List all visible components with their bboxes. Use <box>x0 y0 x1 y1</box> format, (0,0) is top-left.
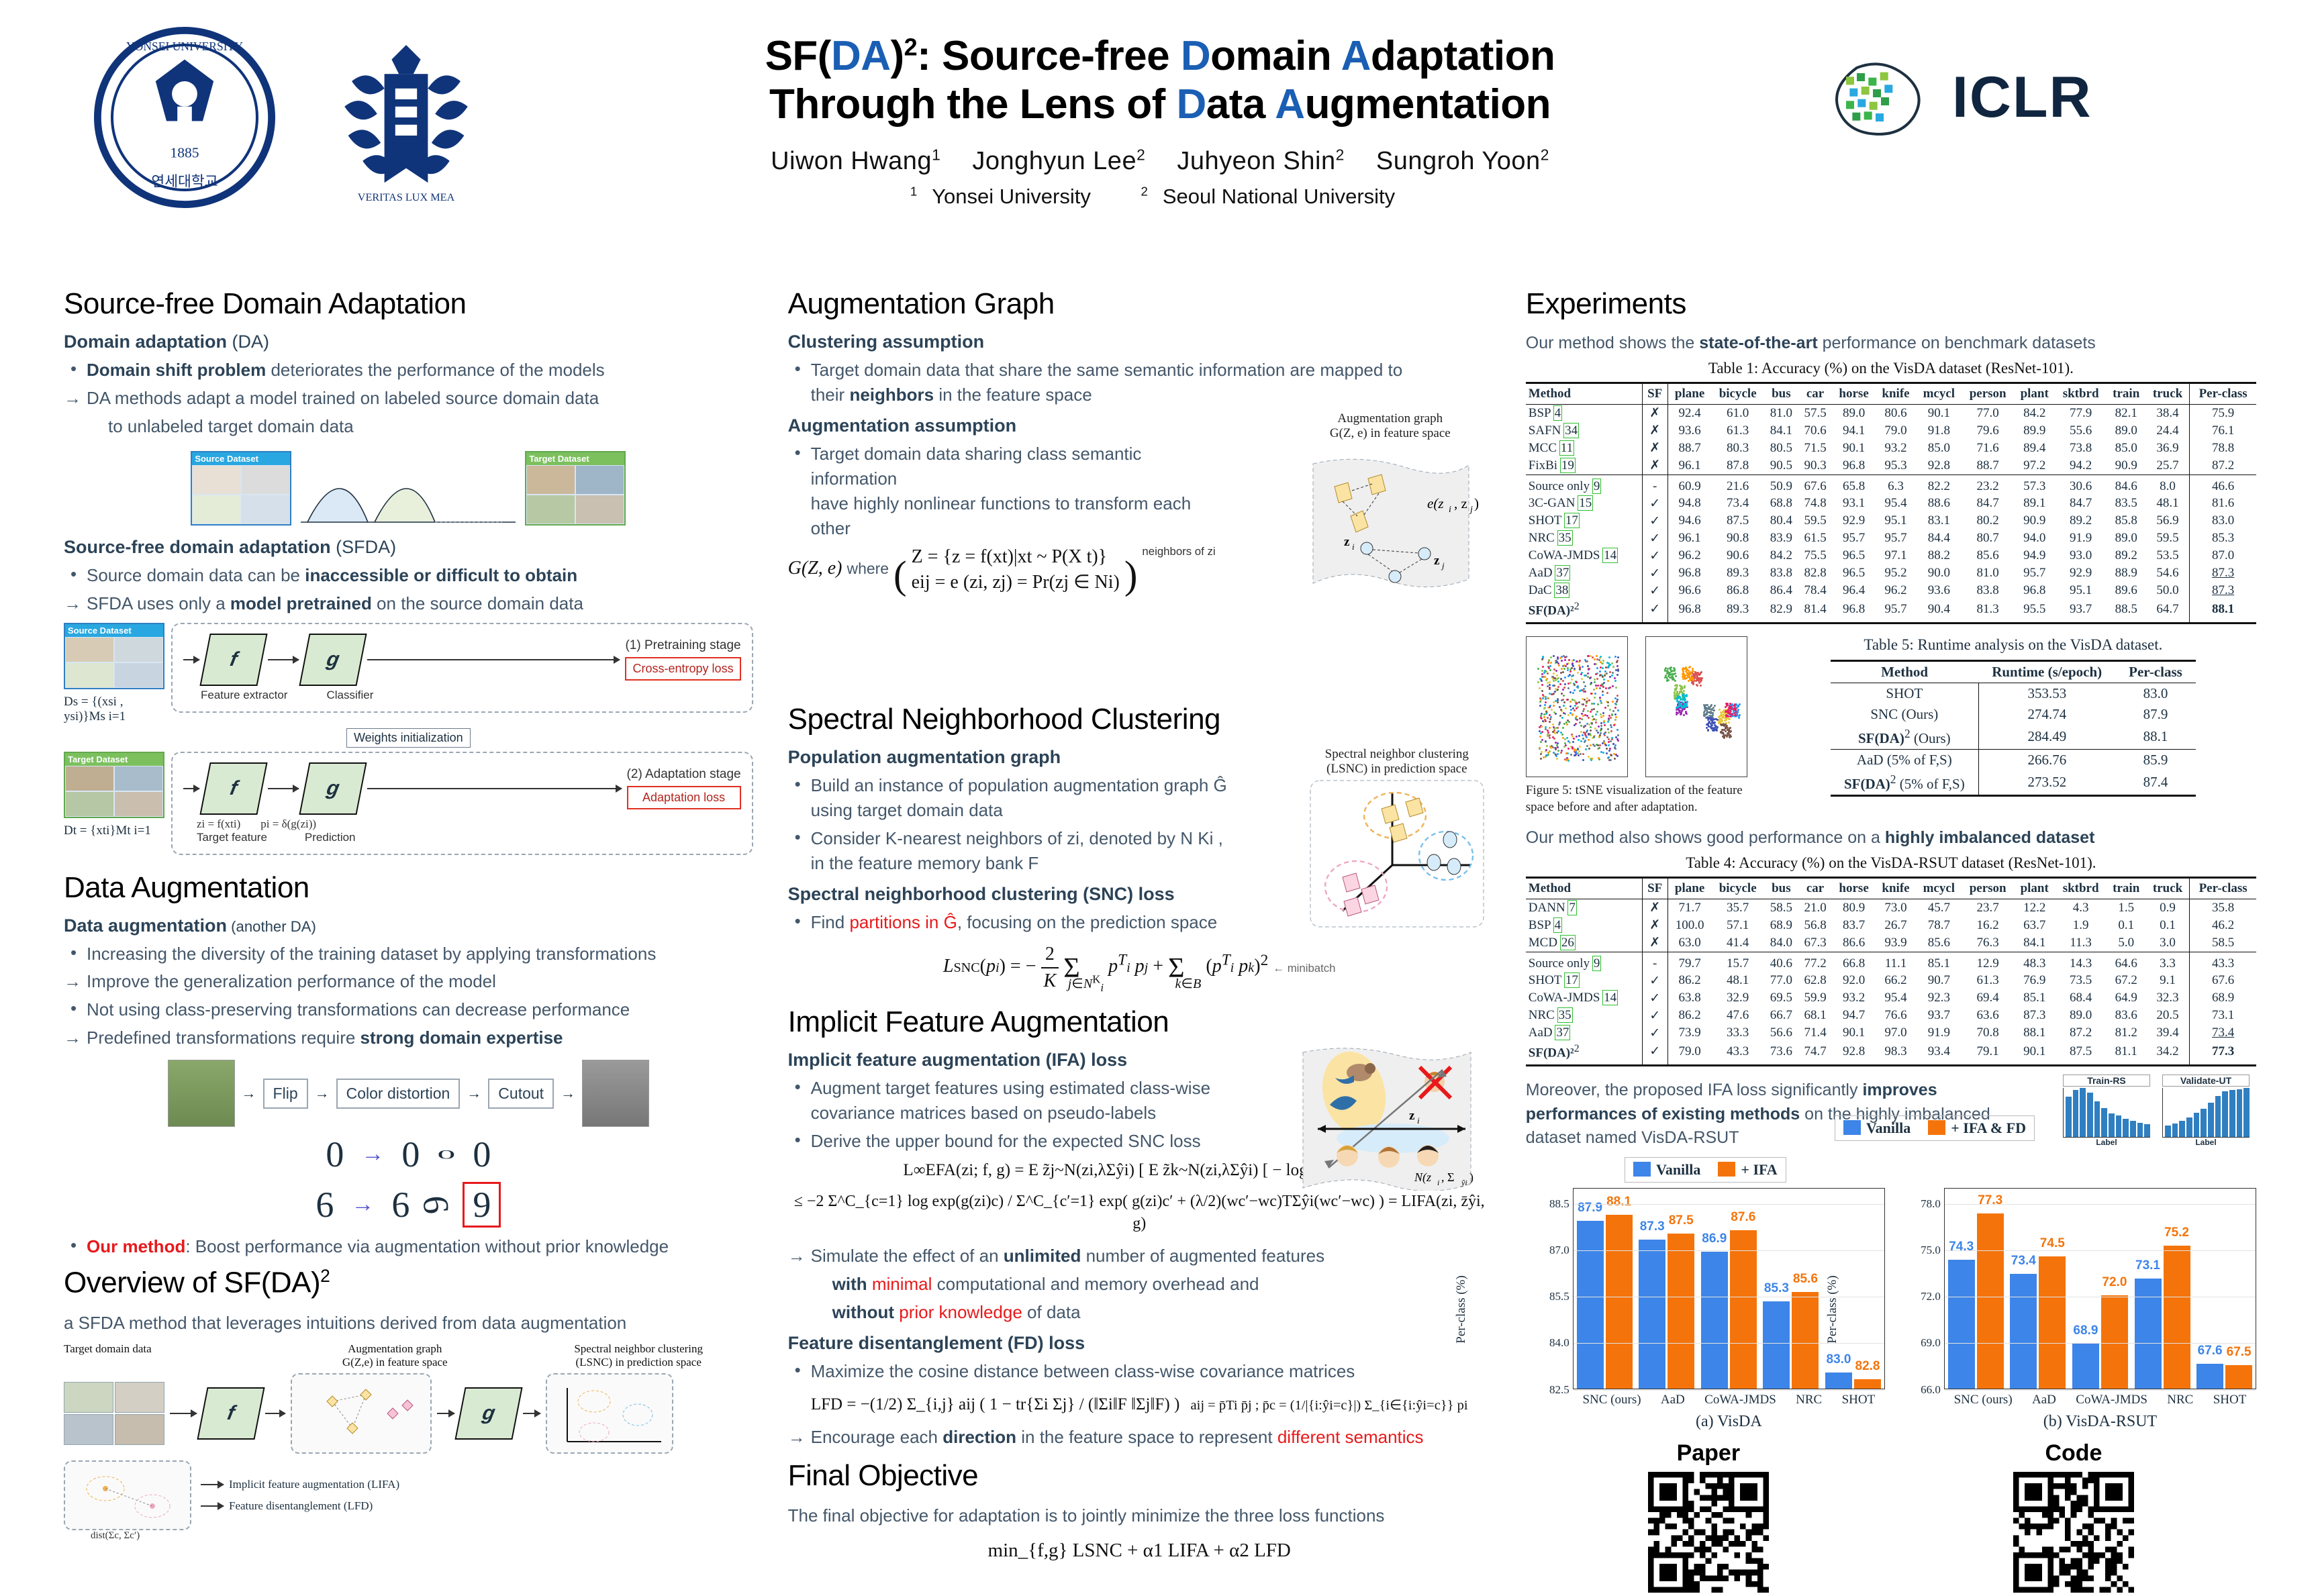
scatter-point <box>1714 705 1716 707</box>
scatter-point <box>1602 667 1604 669</box>
cell-value: 81.0 <box>1764 404 1798 422</box>
qr-paper-icon[interactable] <box>1648 1472 1769 1593</box>
subheading-sfda: Source-free domain adaptation (SFDA) <box>64 537 753 558</box>
bullet-list: Augment target features using estimated … <box>788 1076 1238 1154</box>
stage-label: (1) Pretraining stage <box>625 638 740 653</box>
qr-code[interactable]: Code <box>2013 1440 2134 1596</box>
scatter-point <box>1606 748 1608 750</box>
cell-value: 95.1 <box>2056 582 2107 599</box>
cell-value: 79.7 <box>1667 952 1711 972</box>
title-part: ugmentation <box>1305 81 1551 128</box>
mini-bar <box>2243 1088 2250 1137</box>
cell-value: 0.1 <box>2146 917 2190 934</box>
scatter-point <box>1570 754 1572 756</box>
scatter-point <box>1580 725 1582 727</box>
scatter-point <box>1609 671 1611 673</box>
scatter-point <box>1713 722 1715 724</box>
domain-shift-figure: Source Dataset Target Dataset <box>64 448 753 529</box>
scatter-point <box>1708 707 1710 709</box>
cell-value: 81.0 <box>1962 564 2013 582</box>
scatter-point <box>1590 682 1592 684</box>
scatter-point <box>1674 672 1676 675</box>
gridline <box>1574 1204 1884 1205</box>
col-header: knife <box>1876 877 1916 899</box>
cell-runtime: 273.52 <box>1978 770 2115 796</box>
scatter-point <box>1593 718 1595 720</box>
experiments-lead: Our method shows the state-of-the-art pe… <box>1526 332 2256 356</box>
scatter-point <box>1599 744 1601 746</box>
cell-value: 94.1 <box>1832 422 1875 440</box>
scatter-point <box>1547 717 1549 719</box>
list-item: Derive the upper bound for the expected … <box>788 1129 1238 1154</box>
scatter-point <box>1582 738 1584 740</box>
cell-per-class: 88.1 <box>2190 599 2256 623</box>
scatter-point <box>1550 656 1552 658</box>
table-row: Source only 9-79.715.740.677.266.811.185… <box>1526 952 2256 972</box>
cell-value: 89.3 <box>1711 599 1764 623</box>
scatter-point <box>1734 709 1736 711</box>
table-row: NRC 35✓96.190.883.961.595.795.784.480.79… <box>1526 530 2256 547</box>
scatter-point <box>1557 750 1559 752</box>
scatter-point <box>1598 758 1600 760</box>
scatter-point <box>1617 670 1619 672</box>
scatter-point <box>1614 748 1616 750</box>
cell-value: 87.5 <box>1711 512 1764 530</box>
cell-per-class: 75.9 <box>2190 404 2256 422</box>
scatter-point <box>1595 673 1597 675</box>
cell-value: 62.8 <box>1798 972 1833 989</box>
scatter-point <box>1602 691 1604 693</box>
scatter-point <box>1583 688 1585 690</box>
cell-value: 61.3 <box>1711 422 1764 440</box>
scatter-point <box>1557 658 1559 660</box>
overview-subtitle: a SFDA method that leverages intuitions … <box>64 1311 753 1336</box>
scatter-point <box>1600 725 1602 727</box>
scatter-point <box>1561 734 1563 736</box>
scatter-point <box>1692 668 1694 670</box>
scatter-point <box>1567 683 1569 685</box>
scatter-point <box>1558 664 1560 666</box>
bar-group: 87.988.1 <box>1577 1215 1633 1388</box>
table-row: Source only 9-60.921.650.967.665.86.382.… <box>1526 475 2256 495</box>
scatter-point <box>1580 740 1582 742</box>
thumb <box>192 465 241 495</box>
scatter-point <box>1615 687 1617 689</box>
scatter-point <box>1550 716 1552 718</box>
source-dataset-card: Source Dataset <box>64 623 164 689</box>
cell-value: 86.6 <box>1832 934 1875 952</box>
table-row: 3C-GAN 15✓94.873.468.874.893.195.488.684… <box>1526 495 2256 512</box>
scatter-point <box>1602 686 1604 688</box>
cell-value: 88.7 <box>1962 457 2013 475</box>
scatter-point <box>1562 680 1564 682</box>
scatter-point <box>1678 693 1680 695</box>
y-tick-label: 75.0 <box>1903 1244 1941 1257</box>
scatter-point <box>1586 736 1588 738</box>
bar-group: 83.082.8 <box>1825 1373 1881 1388</box>
mini-bars <box>2063 1088 2150 1138</box>
scatter-point <box>1573 659 1575 661</box>
scatter-point <box>1603 682 1605 684</box>
chart-legend-b-visible: Vanilla + IFA & FD <box>1835 1115 2035 1141</box>
source-dataset-label: Source Dataset <box>192 452 290 465</box>
aug-step-color-distortion: Color distortion <box>336 1079 461 1109</box>
y-tick-label: 85.5 <box>1532 1290 1569 1303</box>
scatter-point <box>1562 727 1564 729</box>
bar-ifa: 85.6 <box>1792 1292 1819 1388</box>
scatter-point <box>1614 680 1616 682</box>
scatter-point <box>1569 691 1572 693</box>
bar-vanilla: 73.4 <box>2010 1274 2037 1389</box>
figure-5-caption: Figure 5: tSNE visualization of the feat… <box>1526 783 1754 815</box>
feature-extractor-block: f <box>197 1387 264 1440</box>
chart-a-caption: (a) VisDA <box>1573 1413 1885 1431</box>
scatter-point <box>1725 706 1727 708</box>
title-part: Through the Lens of <box>769 81 1177 128</box>
cell-value: 83.5 <box>2107 495 2146 512</box>
scatter-point <box>1728 721 1730 724</box>
scatter-point <box>1591 758 1593 760</box>
prediction-space-clusters <box>1306 777 1488 931</box>
arrow-note-cont: to unlabeled target domain data <box>64 414 753 439</box>
scatter-point <box>1574 709 1576 711</box>
cell-value: 95.7 <box>1832 530 1875 547</box>
col-header: SF <box>1642 877 1667 899</box>
arrow-note: Predefined transformations require stron… <box>64 1026 753 1050</box>
scatter-point <box>1555 679 1557 681</box>
cell-sf: ✗ <box>1642 404 1667 422</box>
scatter-point <box>1616 701 1618 703</box>
bullet-list: Maximize the cosine distance between cla… <box>788 1359 1491 1384</box>
title-da: DA <box>831 33 891 79</box>
cell-value: 57.1 <box>1711 917 1764 934</box>
scatter-point <box>1596 678 1598 680</box>
x-tick-label: SHOT <box>2213 1393 2247 1407</box>
cell-value: 94.0 <box>2014 530 2056 547</box>
cell-value: 91.8 <box>1916 422 1962 440</box>
scatter-point <box>1607 680 1609 682</box>
cell-value: 95.2 <box>1876 564 1916 582</box>
augmentation-graph-formula: G(Z, e) where ( Z = {z = f(xt)|xt ~ P(X … <box>788 544 1266 602</box>
formula-row-2: eij = e (zi, zj) = Pr(zj ∈ Ni) <box>912 570 1120 595</box>
bar-group: 87.387.5 <box>1639 1234 1694 1389</box>
scatter-point <box>1541 684 1543 686</box>
scatter-point <box>1586 731 1588 733</box>
cell-value: 20.5 <box>2146 1007 2190 1024</box>
scatter-point <box>1608 756 1610 758</box>
fd-formula: LFD = −(1/2) Σ_{i,j} aij ( 1 − tr{Σi Σj}… <box>788 1393 1491 1416</box>
gridline <box>1945 1297 2256 1297</box>
title-a: A <box>1275 81 1304 128</box>
scatter-point <box>1616 674 1618 676</box>
scatter-point <box>1712 719 1714 721</box>
classifier-block: g <box>299 634 367 686</box>
cell-value: 50.0 <box>2146 582 2190 599</box>
col-header: plant <box>2014 877 2056 899</box>
scatter-point <box>1707 729 1709 731</box>
chart-a-xlabels: SNC (ours)AaDCoWA-JMDSNRCSHOT <box>1573 1393 1885 1407</box>
bar-value-label: 86.9 <box>1702 1232 1727 1246</box>
table-row: CoWA-JMDS 14✓63.832.969.559.993.295.492.… <box>1526 989 2256 1007</box>
scatter-point <box>1729 715 1731 717</box>
scatter-point <box>1616 665 1618 667</box>
cell-value: 67.3 <box>1798 934 1833 952</box>
col-header: truck <box>2146 877 2190 899</box>
cell-per-class: 43.3 <box>2190 952 2256 972</box>
scatter-point <box>1539 701 1541 703</box>
cell-value: 94.6 <box>1667 512 1711 530</box>
scatter-point <box>1588 734 1590 736</box>
ifa-manifold-diagram: z i N(z i , Σ ŷi ) <box>1290 1043 1484 1191</box>
cell-value: 83.7 <box>1832 917 1875 934</box>
cell-value: 96.2 <box>1667 547 1711 564</box>
cell-value: 96.8 <box>2014 582 2056 599</box>
cell-sf: ✓ <box>1642 1007 1667 1024</box>
table-4-caption: Table 4: Accuracy (%) on the VisDA-RSUT … <box>1526 854 2256 877</box>
cell-value: 61.3 <box>1962 972 2013 989</box>
table-row: SF(DA)2 (Ours) 284.49 88.1 <box>1831 725 2196 750</box>
cell-value: 82.2 <box>1916 475 1962 495</box>
subheading-clustering-assumption: Clustering assumption <box>788 332 1491 352</box>
scatter-point <box>1737 709 1739 711</box>
svg-text:j: j <box>1469 505 1473 515</box>
cell-method: FixBi 19 <box>1526 457 1642 475</box>
bar-group: 68.972.0 <box>2072 1295 2128 1388</box>
scatter-point <box>1552 676 1554 678</box>
arrow-note: Simulate the effect of an unlimited numb… <box>788 1244 1491 1268</box>
cell-value: 93.6 <box>1916 582 1962 599</box>
scatter-point <box>1569 674 1571 676</box>
bar-group: 67.667.5 <box>2196 1364 2252 1389</box>
label-distribution-charts: Train-RS Label Validate-UT Label <box>2063 1075 2250 1147</box>
scatter-point <box>1615 669 1617 671</box>
scatter-point <box>1545 749 1547 751</box>
cell-sf: - <box>1642 475 1667 495</box>
scatter-point <box>1719 709 1721 711</box>
cell-per-class: 85.9 <box>2115 749 2196 770</box>
scatter-point <box>1605 666 1607 668</box>
bar-value-label: 87.3 <box>1640 1219 1665 1234</box>
column-right: Experiments Our method shows the state-o… <box>1526 282 2256 1596</box>
mini-chart-title: Validate-UT <box>2162 1075 2250 1087</box>
cell-per-class: 73.4 <box>2190 1024 2256 1042</box>
svg-text:, Σ: , Σ <box>1441 1170 1454 1184</box>
cell-value: 3.3 <box>2146 952 2190 972</box>
cell-value: 73.0 <box>1876 899 1916 917</box>
scatter-point <box>1578 701 1580 703</box>
svg-text:i: i <box>1449 505 1451 515</box>
cell-runtime: 284.49 <box>1978 725 2115 750</box>
scatter-point <box>1554 677 1556 679</box>
legend-vanilla: Vanilla <box>1843 1119 1911 1137</box>
scatter-point <box>1588 739 1590 741</box>
cell-value: 48.1 <box>1711 972 1764 989</box>
scatter-point <box>1553 752 1555 754</box>
scatter-point <box>1541 713 1543 715</box>
final-objective-formula: min_{f,g} LSNC + α1 LIFA + α2 LFD <box>788 1538 1491 1564</box>
mini-bar <box>2222 1091 2228 1137</box>
cell-value: 93.1 <box>1832 495 1875 512</box>
scatter-point <box>1588 724 1590 726</box>
qr-code-label: Code <box>2013 1440 2134 1466</box>
p-equation: pi = δ(g(zi)) <box>260 817 316 831</box>
scatter-point <box>1712 709 1714 711</box>
cell-value: 87.2 <box>2056 1024 2107 1042</box>
svg-text:i: i <box>1437 1178 1439 1187</box>
cell-value: 63.0 <box>1667 934 1711 952</box>
scatter-point <box>1540 753 1542 755</box>
scatter-point <box>1674 692 1676 694</box>
cell-value: 79.0 <box>1667 1042 1711 1065</box>
scatter-point <box>1729 712 1731 714</box>
scatter-point <box>1611 713 1613 715</box>
ifa-fd-diagram <box>65 1462 193 1532</box>
scatter-point <box>1579 717 1581 719</box>
scatter-point <box>1600 685 1602 687</box>
scatter-point <box>1585 705 1587 707</box>
cell-value: 70.8 <box>1962 1024 2013 1042</box>
list-item: Augment target features using estimated … <box>788 1076 1238 1126</box>
cell-value: 76.3 <box>1962 934 2013 952</box>
bar-ifa: 74.5 <box>2039 1256 2066 1388</box>
cell-value: 74.7 <box>1798 1042 1833 1065</box>
cell-value: 79.0 <box>1876 422 1916 440</box>
stage-label: (2) Adaptation stage <box>627 767 741 782</box>
bar-value-label: 73.1 <box>2135 1258 2160 1273</box>
mini-bar <box>2080 1088 2086 1137</box>
scatter-point <box>1563 668 1565 670</box>
scatter-point <box>1567 714 1569 716</box>
bullet-list: Our method: Boost performance via augmen… <box>64 1234 753 1259</box>
cell-value: 11.1 <box>1876 952 1916 972</box>
scatter-point <box>1614 656 1616 658</box>
cell-value: 80.9 <box>1832 899 1875 917</box>
cell-value: 80.7 <box>1962 530 2013 547</box>
cell-method: SHOT 17 <box>1526 512 1642 530</box>
mini-chart-train-rs: Train-RS Label <box>2063 1075 2150 1147</box>
scatter-point <box>1563 701 1565 703</box>
cell-method: SF(DA)²2 <box>1526 599 1642 623</box>
cell-value: 88.5 <box>2107 599 2146 623</box>
cell-value: 96.8 <box>1667 564 1711 582</box>
cell-value: 68.4 <box>2056 989 2107 1007</box>
cell-sf: ✓ <box>1642 989 1667 1007</box>
qr-paper[interactable]: Paper <box>1648 1440 1769 1596</box>
feature-space-manifold: e(z i , z j ) z i z j <box>1293 444 1488 591</box>
scatter-point <box>1607 721 1609 723</box>
cell-value: 63.6 <box>1962 1007 2013 1024</box>
scatter-point <box>1541 680 1543 682</box>
table-row: SNC (Ours) 274.74 87.9 <box>1831 704 2196 725</box>
scatter-point <box>1614 713 1616 715</box>
scatter-point <box>1577 685 1579 687</box>
scatter-point <box>1576 715 1578 717</box>
thumb <box>526 495 575 524</box>
scatter-point <box>1617 656 1619 658</box>
mini-bar <box>2144 1124 2150 1137</box>
cell-value: 93.6 <box>1667 422 1711 440</box>
bar-vanilla: 73.1 <box>2135 1279 2162 1389</box>
scatter-point <box>1612 743 1614 745</box>
person-icon-3 <box>1417 1145 1439 1166</box>
scatter-point <box>1567 758 1569 760</box>
cell-value: 96.8 <box>1832 457 1875 475</box>
cell-value: 84.7 <box>1962 495 2013 512</box>
scatter-point <box>1671 670 1673 672</box>
scatter-point <box>1729 730 1731 732</box>
list-item: Maximize the cosine distance between cla… <box>788 1359 1491 1384</box>
cell-value: 4.3 <box>2056 899 2107 917</box>
list-item: Domain shift problem deteriorates the pe… <box>64 358 753 383</box>
scatter-point <box>1587 672 1589 675</box>
cell-value: 86.2 <box>1667 1007 1711 1024</box>
mini-xlabel: Label <box>2063 1138 2150 1147</box>
arrow-note: SFDA uses only a model pretrained on the… <box>64 591 753 616</box>
scatter-point <box>1543 672 1545 674</box>
col-header: Per-class <box>2190 383 2256 404</box>
cell-value: 89.2 <box>2107 547 2146 564</box>
scatter-point <box>1577 748 1579 750</box>
scatter-point <box>1588 668 1590 670</box>
column-left: Source-free Domain Adaptation Domain ada… <box>64 282 753 1596</box>
scatter-point <box>1566 663 1568 665</box>
cell-value: 90.5 <box>1764 457 1798 475</box>
col-header: mcycl <box>1916 383 1962 404</box>
thumb <box>526 465 575 495</box>
scatter-point <box>1676 713 1678 715</box>
scatter-point <box>1561 699 1563 701</box>
digit-rotated: 6 <box>415 1194 458 1215</box>
col-header: bus <box>1764 877 1798 899</box>
scatter-point <box>1600 716 1602 718</box>
qr-code-icon[interactable] <box>2013 1472 2134 1593</box>
gridline <box>1945 1390 2256 1391</box>
cell-value: 14.3 <box>2056 952 2107 972</box>
scatter-point <box>1565 752 1567 754</box>
scatter-point <box>1566 699 1568 701</box>
mini-bar <box>2130 1121 2136 1137</box>
scatter-point <box>1708 721 1710 724</box>
scatter-point <box>1551 709 1553 711</box>
scatter-point <box>1688 680 1690 682</box>
cell-value: 71.7 <box>1667 899 1711 917</box>
scatter-point <box>1602 676 1604 678</box>
scatter-point <box>1595 719 1597 721</box>
bar-ifa: 75.2 <box>2164 1246 2190 1388</box>
scatter-point <box>1554 691 1556 693</box>
scatter-point <box>1616 755 1618 757</box>
cell-value: 96.8 <box>1667 599 1711 623</box>
scatter-point <box>1608 741 1610 743</box>
scatter-point <box>1579 660 1581 662</box>
ifa-fd-panel <box>64 1460 191 1530</box>
cell-value: 97.0 <box>1876 1024 1916 1042</box>
cell-value: 66.2 <box>1876 972 1916 989</box>
scatter-point <box>1564 656 1566 658</box>
cell-value: 92.8 <box>1916 457 1962 475</box>
table-5-wrapper: Table 5: Runtime analysis on the VisDA d… <box>1770 636 2256 797</box>
scatter-point <box>1553 685 1555 687</box>
scatter-point <box>1609 687 1611 689</box>
dist-label: dist(Σc, Σc′) <box>64 1530 753 1542</box>
cell-per-class: 88.1 <box>2115 725 2196 750</box>
bar-ifa: 88.1 <box>1606 1215 1633 1388</box>
bar-value-label: 72.0 <box>2102 1275 2127 1290</box>
cell-per-class: 83.0 <box>2190 512 2256 530</box>
bar-ifa: 87.5 <box>1667 1234 1694 1389</box>
iclr-brain-icon <box>1830 57 1937 138</box>
scatter-point <box>1610 754 1612 756</box>
